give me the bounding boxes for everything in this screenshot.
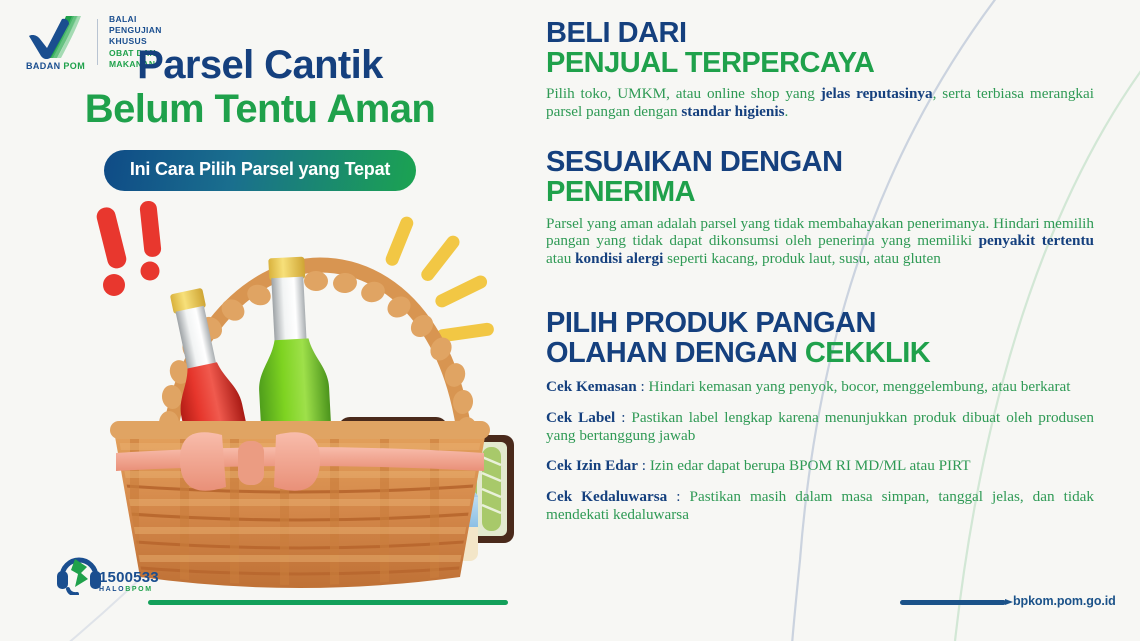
section-cekklik: PILIH PRODUK PANGAN OLAHAN DENGAN CEKKLI… <box>546 308 1094 524</box>
spacer <box>546 268 1094 308</box>
footer-rule-green <box>148 600 508 605</box>
cekklik-item: Cek Label : Pastikan label lengkap karen… <box>546 409 1094 445</box>
cekklik-item-label: Cek Izin Edar <box>546 457 638 474</box>
spacer <box>546 121 1094 147</box>
heading-line-green: PENJUAL TERPERCAYA <box>546 47 874 79</box>
cekklik-item-text: Hindari kemasan yang penyok, bocor, meng… <box>649 378 1071 395</box>
logo-word-2: PENGUJIAN <box>109 25 162 36</box>
heading-line-2-blue: OLAHAN DENGAN <box>546 337 805 369</box>
heading-line-blue: BELI DARI <box>546 17 687 49</box>
infographic-canvas: BADAN POM BALAI PENGUJIAN KHUSUS OBAT DA… <box>0 0 1140 641</box>
hero-title-block: Parsel Cantik Belum Tentu Aman Ini Cara … <box>0 44 520 191</box>
cekklik-item-label: Cek Label <box>546 409 615 426</box>
section-heading: PILIH PRODUK PANGAN OLAHAN DENGAN CEKKLI… <box>546 308 1094 368</box>
halo-text-block: 1500533 HALOBPOM <box>99 570 159 595</box>
cekklik-item-text: Izin edar dapat berupa BPOM RI MD/ML ata… <box>650 457 971 474</box>
logo-word-1: BALAI <box>109 14 162 25</box>
halo-wordmark: HALOBPOM <box>99 586 159 593</box>
section-body: Parsel yang aman adalah parsel yang tida… <box>546 215 1094 269</box>
cekklik-item: Cek Izin Edar : Izin edar dapat berupa B… <box>546 457 1094 475</box>
section-heading: SESUAIKAN DENGAN PENERIMA <box>546 147 1094 207</box>
hero-line-1: Parsel Cantik <box>0 44 520 86</box>
parsel-basket-illustration <box>70 195 540 595</box>
section-body: Pilih toko, UMKM, atau online shop yang … <box>546 85 1094 121</box>
halo-bpom-contact: 1500533 HALOBPOM <box>55 551 159 595</box>
hero-line-2: Belum Tentu Aman <box>0 88 520 130</box>
heading-line-1: PILIH PRODUK PANGAN <box>546 307 876 339</box>
heading-line-2-green: CEKKLIK <box>805 337 930 369</box>
halo-label: HALO <box>99 586 125 593</box>
cekklik-item-label: Cek Kemasan <box>546 378 637 395</box>
heading-line-green: PENERIMA <box>546 176 695 208</box>
section-sesuaikan-dengan-penerima: SESUAIKAN DENGAN PENERIMA Parsel yang am… <box>546 147 1094 268</box>
footer-rule-blue <box>900 600 1006 605</box>
bpom-label: BPOM <box>125 586 152 593</box>
cekklik-item: Cek Kedaluwarsa : Pastikan masih dalam m… <box>546 488 1094 524</box>
website-url: bpkom.pom.go.id <box>1013 594 1116 608</box>
hero-subtitle-pill: Ini Cara Pilih Parsel yang Tepat <box>104 150 416 191</box>
cekklik-item: Cek Kemasan : Hindari kemasan yang penyo… <box>546 378 1094 396</box>
exclamation-marks-icon <box>95 200 162 296</box>
cekklik-item-label: Cek Kedaluwarsa <box>546 488 667 505</box>
content-column: BELI DARI PENJUAL TERPERCAYA Pilih toko,… <box>546 18 1094 537</box>
cekklik-list: Cek Kemasan : Hindari kemasan yang penyo… <box>546 378 1094 525</box>
yellow-burst-icon <box>384 215 495 343</box>
section-beli-dari: BELI DARI PENJUAL TERPERCAYA Pilih toko,… <box>546 18 1094 121</box>
halo-phone-number: 1500533 <box>99 570 159 585</box>
heading-line-blue: SESUAIKAN DENGAN <box>546 146 843 178</box>
headset-check-icon <box>55 551 103 595</box>
section-heading: BELI DARI PENJUAL TERPERCAYA <box>546 18 1094 78</box>
